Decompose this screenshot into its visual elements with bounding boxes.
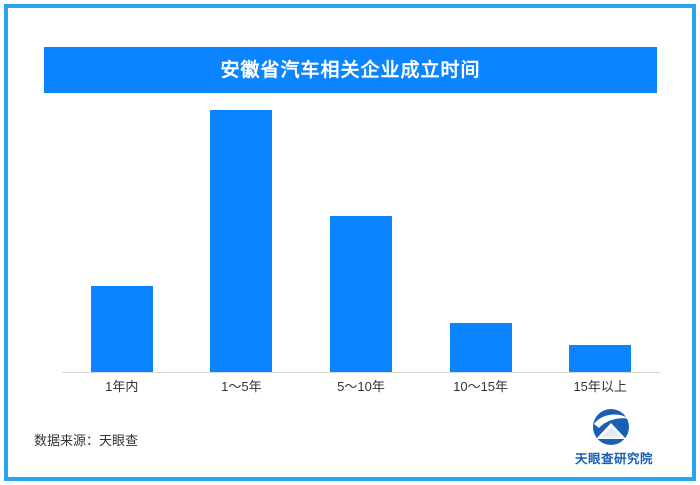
- bar-1-to-5-years[interactable]: [210, 110, 272, 372]
- x-axis-tick-label: 1年内: [105, 379, 138, 394]
- bar-5-to-10-years[interactable]: [330, 216, 392, 372]
- x-axis-tick-label: 15年以上: [573, 379, 626, 394]
- bar-slot: [182, 110, 302, 372]
- bar-chart: 1年内 1～5年 5～10年 10～15年 15年以上: [0, 110, 700, 400]
- x-axis-tick-label: 5～10年: [337, 379, 385, 394]
- page-frame-bottom: [4, 477, 696, 481]
- x-label-slot: 5～10年: [301, 378, 421, 396]
- x-axis-tick-label: 10～15年: [453, 379, 508, 394]
- x-label-slot: 10～15年: [421, 378, 541, 396]
- bar-slot: [540, 110, 660, 372]
- bar-1year-within[interactable]: [91, 286, 153, 372]
- page-title: 安徽省汽车相关企业成立时间: [220, 61, 480, 80]
- bar-group: [62, 110, 660, 372]
- bar-slot: [421, 110, 541, 372]
- x-label-slot: 1年内: [62, 378, 182, 396]
- x-label-slot: 15年以上: [540, 378, 660, 396]
- brand-logo: 天眼查研究院: [560, 408, 668, 466]
- bar-15-years-above[interactable]: [569, 345, 631, 372]
- tianyancha-eye-logo-icon: [590, 408, 632, 446]
- bar-slot: [301, 110, 421, 372]
- data-source-note: 数据来源：天眼查: [34, 430, 138, 449]
- x-axis-tick-label: 1～5年: [221, 379, 261, 394]
- title-banner: 安徽省汽车相关企业成立时间: [44, 47, 657, 93]
- bar-10-to-15-years[interactable]: [450, 323, 512, 372]
- x-label-slot: 1～5年: [182, 378, 302, 396]
- x-axis-labels: 1年内 1～5年 5～10年 10～15年 15年以上: [62, 378, 660, 396]
- bar-slot: [62, 110, 182, 372]
- brand-logo-text: 天眼查研究院: [560, 448, 668, 467]
- page-frame-top: [4, 4, 696, 8]
- infographic-page: 安徽省汽车相关企业成立时间 1年内: [0, 0, 700, 485]
- x-axis-line: [62, 372, 660, 373]
